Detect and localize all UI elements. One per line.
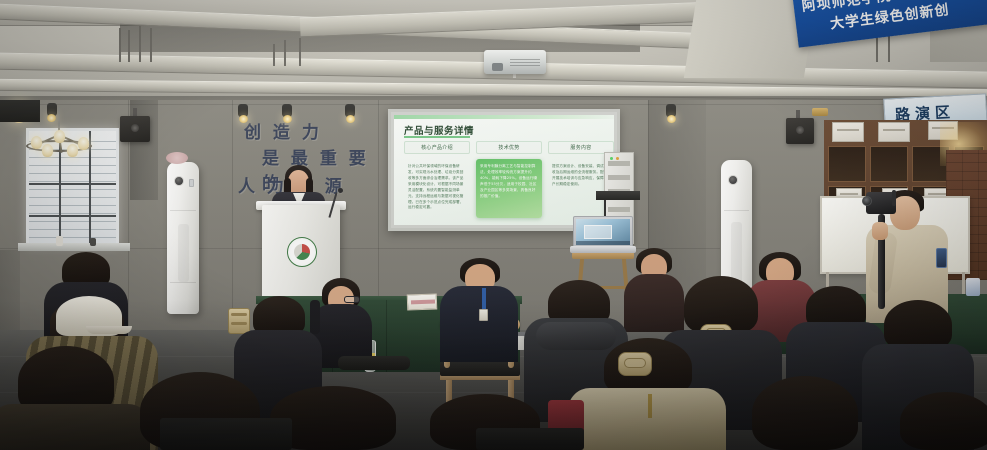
projector-lens	[492, 63, 503, 71]
sill-object	[56, 236, 63, 246]
seat-back	[476, 428, 584, 450]
seat-back	[160, 418, 292, 450]
slide-content: 产品与服务详情 核心产品介绍 技术优势 服务内容 针对公共环保领域的环保设备研发…	[394, 115, 614, 225]
camera-lens-icon	[862, 196, 872, 206]
cup	[966, 278, 980, 296]
microphone-head	[338, 188, 343, 193]
slide-column-tech-advantage: 采用专利膜分离工艺与智能控制算法，处理效率较传统方案提升约40%，能耗下降25%…	[476, 159, 542, 218]
window-sill	[18, 243, 130, 251]
wall-speaker-right	[786, 118, 814, 144]
wall-speaker-left	[120, 116, 150, 142]
slogan-line-1: 创 造 力	[244, 118, 322, 143]
air-conditioner-left	[167, 162, 199, 314]
seat-back	[338, 356, 410, 370]
sill-object	[90, 238, 96, 246]
slide-title-rule	[404, 136, 470, 138]
slide-column-core-product: 针对公共环保领域的环保设备研发，可实现污水处理、垃圾分类回收等多方面综合治理需求…	[404, 159, 470, 218]
podium-emblem	[287, 237, 317, 267]
light-fixture	[812, 108, 828, 116]
laptop-screen	[573, 216, 633, 248]
presentation-hall-photo: 创 造 力 是 最 重 要 的 人 力 资 源 产品与服务详情 核心产	[0, 0, 987, 450]
gimbal-arm	[892, 190, 896, 206]
slide-title: 产品与服务详情	[404, 123, 474, 137]
slide-header-core-product: 核心产品介绍	[404, 141, 470, 154]
slide-accent-bar	[394, 115, 614, 119]
projection-screen: 产品与服务详情 核心产品介绍 技术优势 服务内容 针对公共环保领域的环保设备研发…	[388, 109, 620, 231]
stool-seat	[572, 252, 634, 259]
chandelier	[29, 128, 91, 154]
cameraman-hand	[872, 222, 888, 240]
slide-header-tech-advantage: 技术优势	[476, 141, 542, 154]
ac-top-object	[166, 152, 188, 164]
name-card	[407, 293, 438, 310]
ceiling-junction-box	[596, 191, 640, 200]
wall-frame	[0, 100, 40, 122]
laptop-base	[570, 246, 636, 253]
phone	[936, 248, 947, 268]
